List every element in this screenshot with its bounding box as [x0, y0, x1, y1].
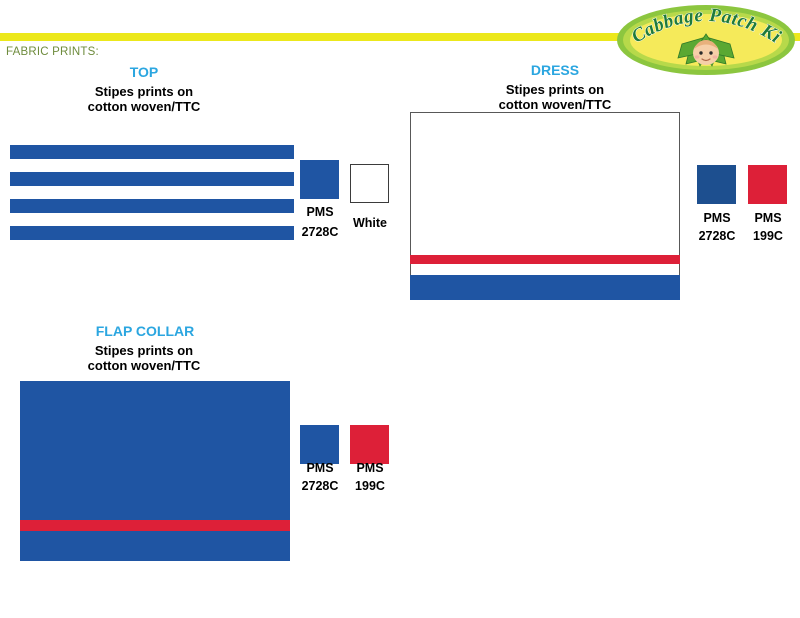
top-stripe-3: [10, 199, 294, 213]
flap-collar-artboard: [20, 381, 290, 561]
section-subtitle-flap-collar-line2: cotton woven/TTC: [64, 358, 224, 373]
section-subtitle-top-line1: Stipes prints on: [64, 84, 224, 99]
swatch-top-white: [350, 164, 389, 203]
swatch-dress-pms-2728c: [697, 165, 736, 204]
dress-blue-band: [410, 275, 680, 300]
swatch-label-flap-pms-199c-line2: 199C: [341, 479, 399, 494]
top-stripe-4: [10, 226, 294, 240]
swatch-flap-pms-199c: [350, 425, 389, 464]
swatch-label-dress-pms-199c-line2: 199C: [739, 229, 797, 244]
cabbage-patch-kids-logo: Cabbage Patch Kids: [616, 4, 796, 76]
swatch-label-dress-pms-2728c-line2: 2728C: [688, 229, 746, 244]
section-title-flap-collar: FLAP COLLAR: [85, 323, 205, 339]
section-subtitle-dress-line1: Stipes prints on: [475, 82, 635, 97]
section-subtitle-dress-line2: cotton woven/TTC: [475, 97, 635, 112]
flap-collar-red-stripe: [20, 520, 290, 531]
section-subtitle-flap-collar-line1: Stipes prints on: [64, 343, 224, 358]
fabric-prints-label: FABRIC PRINTS:: [6, 46, 99, 58]
swatch-flap-pms-2728c: [300, 425, 339, 464]
dress-artboard: [410, 112, 680, 298]
top-stripe-1: [10, 145, 294, 159]
fabric-prints-page: FABRIC PRINTS:: [0, 0, 800, 618]
swatch-dress-pms-199c: [748, 165, 787, 204]
section-title-dress: DRESS: [495, 62, 615, 78]
section-subtitle-top-line2: cotton woven/TTC: [64, 99, 224, 114]
swatch-label-flap-pms-199c-line1: PMS: [341, 461, 399, 476]
dress-red-stripe: [410, 255, 680, 264]
swatch-label-dress-pms-199c-line1: PMS: [739, 211, 797, 226]
swatch-top-pms-2728c: [300, 160, 339, 199]
section-title-top: TOP: [84, 64, 204, 80]
swatch-label-dress-pms-2728c-line1: PMS: [688, 211, 746, 226]
top-stripe-2: [10, 172, 294, 186]
swatch-label-top-white: White: [341, 216, 399, 231]
